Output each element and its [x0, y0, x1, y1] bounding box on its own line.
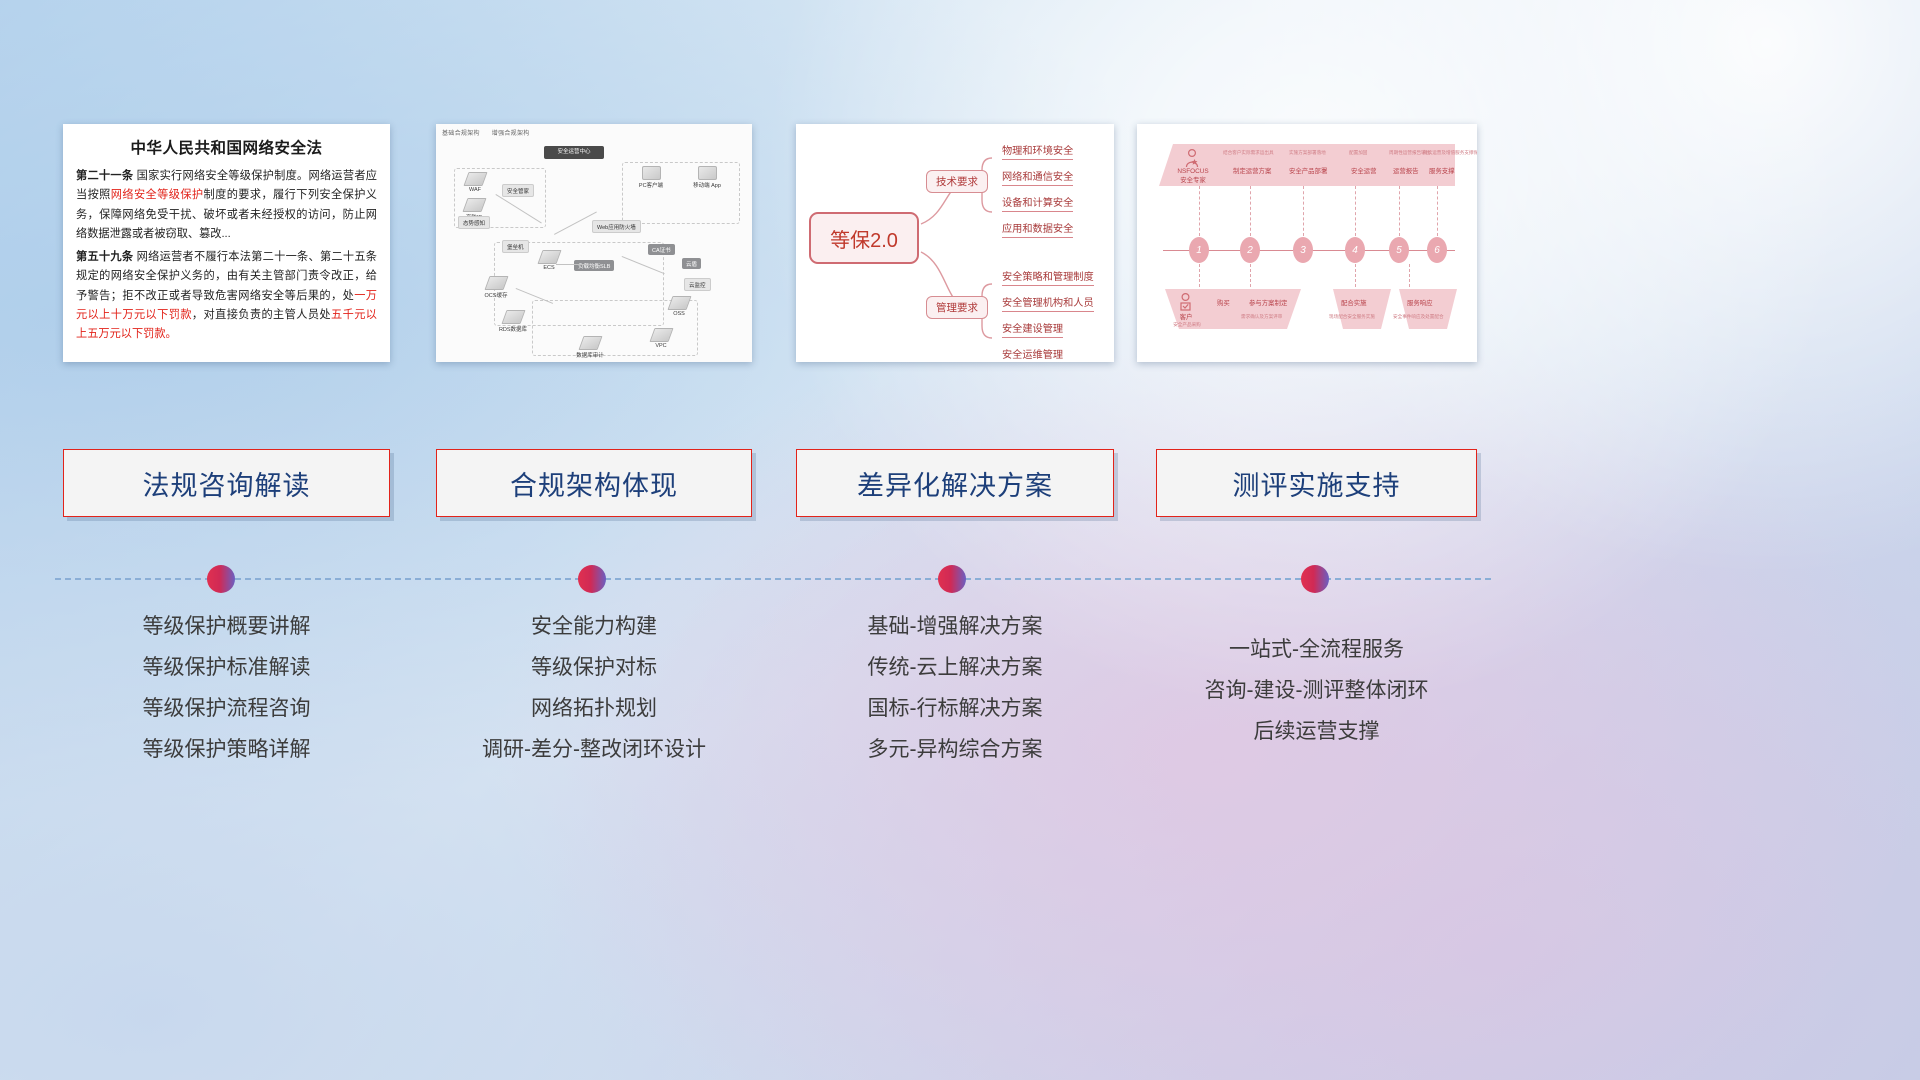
list-item: 等级保护标准解读: [63, 647, 390, 688]
mindmap-leaf-device-compute: 设备和计算安全: [1002, 194, 1073, 212]
bottom-step-1-main: 购买: [1217, 300, 1230, 309]
list-item: 调研-差分-整改闭环设计: [436, 729, 752, 770]
bottom-step-2-sub: 需求确认及方案评审: [1241, 314, 1282, 320]
node-ecs: ECS: [532, 250, 566, 271]
timeline-dot-2[interactable]: [578, 565, 606, 593]
list-item: 等级保护概要讲解: [63, 606, 390, 647]
dash-b1: [1199, 264, 1200, 292]
mindmap-leaf-app-data: 应用和数据安全: [1002, 220, 1073, 238]
mindmap-leaf-network-comm: 网络和通信安全: [1002, 168, 1073, 186]
heading-box-differentiated-solution[interactable]: 差异化解决方案: [796, 449, 1114, 517]
list-item: 多元-异构综合方案: [796, 729, 1114, 770]
dash-3: [1303, 186, 1304, 236]
dash-1: [1199, 186, 1200, 236]
tab-basic-architecture[interactable]: 基础合规架构: [442, 131, 480, 137]
dash-5: [1399, 186, 1400, 236]
list-item: 安全能力构建: [436, 606, 752, 647]
top-step-2-sub: 实施方案部署落地: [1289, 150, 1326, 156]
preview-cards-row: 中华人民共和国网络安全法 第二十一条 国家实行网络安全等级保护制度。网络运营者应…: [0, 124, 1920, 366]
bottom-step-2-main: 参与方案制定: [1249, 300, 1287, 309]
heading-box-assessment-support[interactable]: 测评实施支持: [1156, 449, 1477, 517]
chip-cloud-monitor: 云监控: [684, 278, 711, 291]
architecture-diagram: 基础合规架构 增强合规架构 安全运营中心 WAF 高防IP PC客户端 移动端 …: [436, 124, 752, 362]
detail-column-regulation: 等级保护概要讲解 等级保护标准解读 等级保护流程咨询 等级保护策略详解: [63, 606, 390, 770]
bottom-step-4-main: 服务响应: [1407, 300, 1433, 309]
mindmap: 等保2.0 技术要求 物理和环境安全 网络和通信安全 设备和计算安全 应用和数据…: [796, 124, 1114, 362]
node-pc-client: PC客户端: [632, 166, 670, 189]
dash-6: [1437, 186, 1438, 236]
link-line-2: [554, 211, 597, 234]
dash-b4: [1409, 264, 1410, 292]
mindmap-leaf-operations: 安全运维管理: [1002, 346, 1063, 362]
law-article-59: 第五十九条 网络运营者不履行本法第二十一条、第二十五条规定的网络安全保护义务的，…: [76, 248, 377, 344]
list-item: 咨询-建设-测评整体闭环: [1156, 670, 1477, 711]
chip-bastion-host: 堡垒机: [502, 240, 529, 253]
list-item: 后续运营支撑: [1156, 711, 1477, 752]
dash-b3: [1355, 264, 1356, 292]
heading-box-compliance-architecture[interactable]: 合规架构体现: [436, 449, 752, 517]
detail-column-solution: 基础-增强解决方案 传统-云上解决方案 国标-行标解决方案 多元-异构综合方案: [796, 606, 1114, 770]
chip-security-butler: 安全管家: [502, 184, 534, 197]
node-waf: WAF: [458, 172, 492, 193]
step-marker-2[interactable]: 2: [1240, 237, 1260, 263]
timeline-dot-3[interactable]: [938, 565, 966, 593]
nsfocus-bottom-band-2: [1333, 289, 1391, 329]
list-item: 等级保护策略详解: [63, 729, 390, 770]
expert-person-icon-svg: [1183, 148, 1201, 168]
architecture-tabs: 基础合规架构 增强合规架构: [442, 128, 540, 137]
chip-waf-web: Web应用防火墙: [592, 220, 641, 233]
chip-slb: 负载均衡SLB: [574, 260, 614, 271]
law-article-59-text-b: ，对直接负责的主管人员处: [192, 309, 331, 321]
top-step-1-main: 制定运营方案: [1233, 168, 1271, 177]
link-line-3: [556, 264, 586, 265]
bottom-step-3-main: 配合实施: [1341, 300, 1367, 309]
bottom-step-4-sub: 安全事件响应及处置配合: [1393, 314, 1444, 320]
list-item: 基础-增强解决方案: [796, 606, 1114, 647]
list-item: 一站式-全流程服务: [1156, 629, 1477, 670]
expert-role: 安全专家: [1169, 177, 1217, 186]
step-marker-5[interactable]: 5: [1389, 237, 1409, 263]
top-step-5-main: 服务支撑: [1429, 168, 1455, 177]
law-article-21: 第二十一条 国家实行网络安全等级保护制度。网络运营者应当按照网络安全等级保护制度…: [76, 167, 377, 244]
top-step-3-main: 安全运营: [1351, 168, 1377, 177]
law-title: 中华人民共和国网络安全法: [76, 136, 377, 158]
card-nsfocus-timeline[interactable]: NSFOCUS 安全专家 结合客户实际需求运出具 制定运营方案 实施方案部署落地…: [1137, 124, 1477, 362]
dash-b2: [1250, 264, 1251, 292]
bottom-step-3-sub: 现场配合安全服务实施: [1329, 314, 1375, 320]
law-article-21-label: 第二十一条: [76, 170, 133, 182]
mindmap-branch-technical[interactable]: 技术要求: [926, 170, 988, 193]
mindmap-leaf-org-personnel: 安全管理机构和人员: [1002, 294, 1094, 312]
step-marker-3[interactable]: 3: [1293, 237, 1313, 263]
node-rds: RDS数据库: [490, 310, 536, 333]
top-step-2-main: 安全产品部署: [1289, 168, 1327, 177]
top-step-3-sub: 配置加固: [1349, 150, 1367, 156]
step-marker-1[interactable]: 1: [1189, 237, 1209, 263]
top-step-4-main: 运营报告: [1393, 168, 1419, 177]
headings-row: 法规咨询解读 合规架构体现 差异化解决方案 测评实施支持: [0, 449, 1920, 519]
detail-column-assessment: 一站式-全流程服务 咨询-建设-测评整体闭环 后续运营支撑: [1156, 629, 1477, 752]
law-body: 中华人民共和国网络安全法 第二十一条 国家实行网络安全等级保护制度。网络运营者应…: [63, 124, 390, 344]
list-item: 等级保护对标: [436, 647, 752, 688]
list-item: 网络拓扑规划: [436, 688, 752, 729]
law-article-59-label: 第五十九条: [76, 251, 133, 263]
timeline-dot-4[interactable]: [1301, 565, 1329, 593]
node-vpc: VPC: [644, 328, 678, 349]
nsfocus-diagram: NSFOCUS 安全专家 结合客户实际需求运出具 制定运营方案 实施方案部署落地…: [1137, 124, 1477, 362]
architecture-header-chip-label: 安全运营中心: [544, 146, 604, 159]
customer-role-sub: 安全产品采购: [1165, 322, 1209, 328]
list-item: 传统-云上解决方案: [796, 647, 1114, 688]
customer-person-icon-svg: [1177, 292, 1194, 311]
chip-ca-cert: CA证书: [648, 244, 675, 255]
list-item: 等级保护流程咨询: [63, 688, 390, 729]
node-db-audit: 数据库审计: [566, 336, 614, 359]
mindmap-leaf-policy-system: 安全策略和管理制度: [1002, 268, 1094, 286]
heading-box-regulation-consulting[interactable]: 法规咨询解读: [63, 449, 390, 517]
tab-enhanced-architecture[interactable]: 增强合规架构: [492, 131, 530, 137]
detail-column-architecture: 安全能力构建 等级保护对标 网络拓扑规划 调研-差分-整改闭环设计: [436, 606, 752, 770]
node-oss: OSS: [662, 296, 696, 317]
list-item: 国标-行标解决方案: [796, 688, 1114, 729]
top-step-5-sub: 持续运营及增值服务支撑保障: [1423, 150, 1477, 156]
law-article-21-highlight: 网络安全等级保护: [111, 189, 204, 201]
mindmap-leaf-physical-env: 物理和环境安全: [1002, 142, 1073, 160]
dash-2: [1250, 186, 1251, 236]
customer-person-icon: [1177, 292, 1194, 316]
architecture-header-chip: 安全运营中心: [544, 146, 604, 159]
mindmap-root-node[interactable]: 等保2.0: [809, 212, 919, 264]
timeline-dot-1[interactable]: [207, 565, 235, 593]
mindmap-branch-management[interactable]: 管理要求: [926, 296, 988, 319]
step-marker-4[interactable]: 4: [1345, 237, 1365, 263]
node-ocs-cache: OCS缓存: [474, 276, 518, 299]
timeline-dashed-line: [55, 578, 1491, 580]
timeline: [0, 568, 1920, 592]
card-mindmap-dengbao[interactable]: 等保2.0 技术要求 物理和环境安全 网络和通信安全 设备和计算安全 应用和数据…: [796, 124, 1114, 362]
chip-yundun: 云盾: [682, 258, 701, 269]
chip-situational-awareness: 态势感知: [458, 216, 490, 229]
dash-4: [1355, 186, 1356, 236]
nsfocus-bottom-band-3: [1399, 289, 1457, 329]
card-law-document[interactable]: 中华人民共和国网络安全法 第二十一条 国家实行网络安全等级保护制度。网络运营者应…: [63, 124, 390, 362]
top-step-1-sub: 结合客户实际需求运出具: [1223, 150, 1274, 156]
expert-name: NSFOCUS: [1169, 168, 1217, 177]
mindmap-leaf-construction: 安全建设管理: [1002, 320, 1063, 338]
card-cloud-architecture[interactable]: 基础合规架构 增强合规架构 安全运营中心 WAF 高防IP PC客户端 移动端 …: [436, 124, 752, 362]
step-marker-6[interactable]: 6: [1427, 237, 1447, 263]
node-mobile-app: 移动端 App: [686, 166, 728, 189]
